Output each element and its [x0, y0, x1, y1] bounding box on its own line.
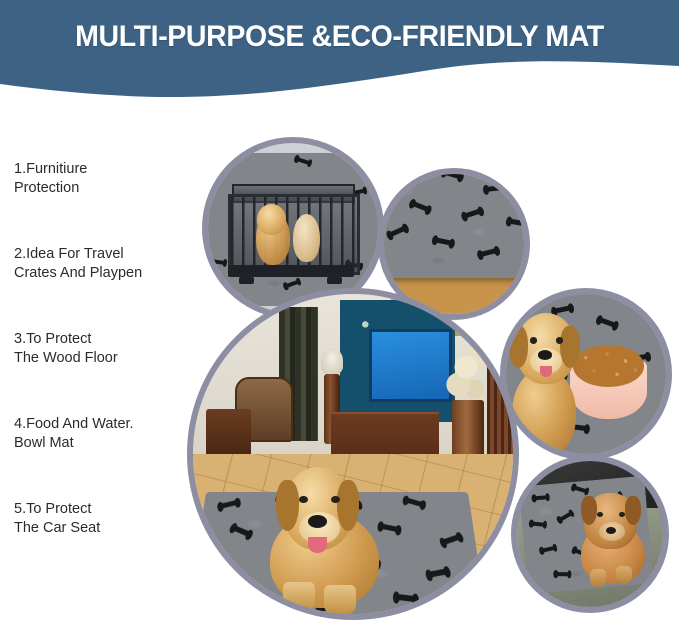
car-scene — [517, 461, 663, 607]
crate-wheel-right — [327, 277, 342, 284]
bone-icon — [428, 569, 447, 578]
bone-icon — [541, 546, 554, 553]
feature-item-1: 1.Furnitiure Protection — [14, 160, 199, 198]
bone-icon — [598, 317, 616, 328]
feature-item-3: 3.To Protect The Wood Floor — [14, 330, 199, 368]
feature-item-5: 5.To Protect The Car Seat — [14, 500, 199, 538]
bone-icon — [296, 158, 309, 166]
bone-icon — [534, 496, 546, 501]
page-title: MULTI-PURPOSE &ECO-FRIENDLY MAT — [17, 20, 662, 54]
dog-eye-left — [530, 337, 537, 343]
feature-item-4: 4.Food And Water. Bowl Mat — [14, 415, 199, 453]
bone-icon — [406, 498, 424, 507]
bone-icon — [442, 534, 461, 545]
dog-nose — [308, 515, 327, 528]
dog-eye-right — [556, 337, 563, 343]
feature-list: 1.Furnitiure Protection 2.Idea For Trave… — [14, 160, 199, 538]
stair-railing — [487, 332, 513, 460]
bone-icon — [220, 500, 238, 509]
crate-base — [228, 265, 354, 277]
header-wave-shape — [0, 0, 679, 110]
bone-icon — [434, 237, 452, 245]
bone-icon — [212, 259, 224, 265]
bone-icon — [559, 513, 571, 522]
bone-icon — [480, 248, 498, 257]
dog-paw-right — [324, 585, 356, 614]
bone-icon — [532, 522, 544, 527]
dog-ear-right — [560, 326, 579, 368]
product-infographic: MULTI-PURPOSE &ECO-FRIENDLY MAT 1.Furnit… — [0, 0, 679, 642]
puppy-paw-left — [590, 569, 606, 587]
bone-icon — [380, 524, 398, 533]
feature-item-2: 2.Idea For Travel Crates And Playpen — [14, 245, 199, 283]
dog-ear-left — [276, 480, 298, 531]
bone-icon — [463, 209, 481, 219]
dog-paw-left — [283, 582, 315, 611]
bone-icon — [554, 305, 572, 313]
bone-icon — [389, 226, 407, 237]
bone-icon — [236, 596, 256, 607]
bone-icon — [392, 177, 410, 185]
bone-icon — [396, 594, 415, 602]
photo-puppy-on-mat-in-car-seat — [511, 455, 669, 613]
living-room-scene — [193, 294, 513, 614]
header-banner: MULTI-PURPOSE &ECO-FRIENDLY MAT — [0, 0, 679, 110]
puppy-paw-right — [616, 566, 632, 584]
crate-wheel-left — [239, 277, 254, 284]
bone-icon — [411, 201, 429, 212]
photo-dog-with-food-bowl-on-mat — [500, 288, 672, 460]
dog-nose — [538, 350, 552, 360]
bone-icon — [556, 572, 568, 576]
bone-icon — [509, 219, 527, 227]
bone-icon — [444, 170, 462, 179]
wood-floor-scene — [384, 174, 524, 314]
photo-living-room-dog-on-mat — [187, 288, 519, 620]
flower-arrangement — [443, 339, 494, 409]
table-lamp — [321, 348, 343, 374]
bone-icon — [216, 165, 228, 169]
bowl-scene — [506, 294, 666, 454]
bone-icon — [574, 487, 587, 494]
bone-icon — [233, 525, 251, 537]
crated-dog-body-2 — [293, 214, 320, 262]
crated-dog-head — [257, 204, 286, 235]
dog-food-kibble — [573, 345, 643, 387]
pet-mat — [378, 168, 530, 278]
bone-icon — [285, 280, 298, 288]
bone-icon — [486, 185, 503, 192]
tv-screen — [369, 329, 452, 402]
bone-icon — [206, 561, 225, 569]
